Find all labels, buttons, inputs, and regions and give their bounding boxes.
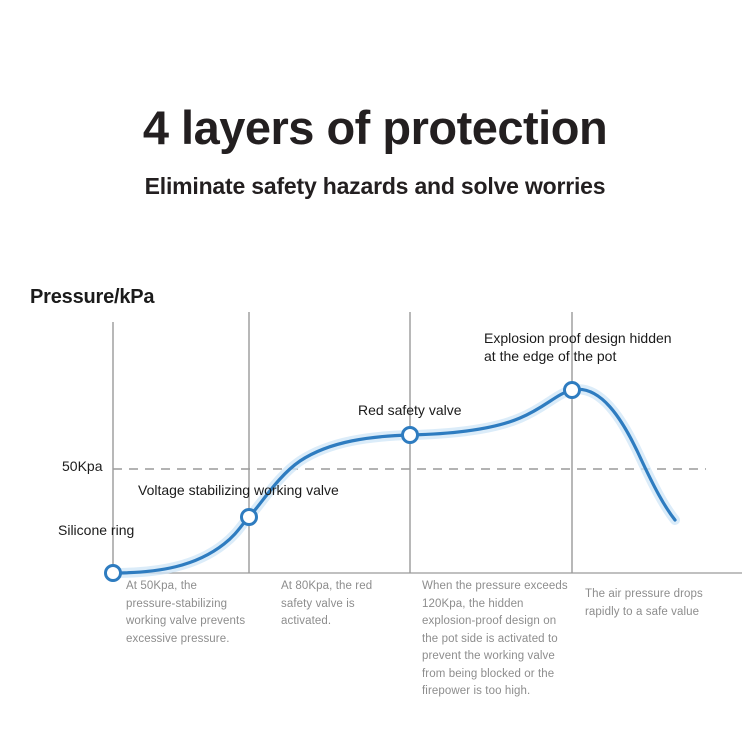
data-point-voltage-valve[interactable] — [242, 510, 257, 525]
callout-red-safety-valve: Red safety valve — [358, 402, 462, 419]
y-axis-tick-50kpa: 50Kpa — [62, 458, 102, 474]
callout-explosion-proof-design: Explosion proof design hidden at the edg… — [484, 329, 672, 365]
poster-root: 4 layers of protection Eliminate safety … — [0, 0, 750, 750]
y-axis-title: Pressure/kPa — [30, 286, 154, 309]
description-stage-2: At 80Kpa, the red safety valve is activa… — [281, 578, 401, 631]
description-stage-4: The air pressure drops rapidly to a safe… — [585, 586, 740, 621]
callout-silicone-ring: Silicone ring — [58, 522, 134, 539]
data-point-silicone[interactable] — [106, 566, 121, 581]
description-stage-1: At 50Kpa, the pressure-stabilizing worki… — [126, 578, 248, 648]
data-point-explosion-proof[interactable] — [565, 383, 580, 398]
callout-voltage-stabilizing-valve: Voltage stabilizing working valve — [138, 482, 339, 499]
pressure-chart: Pressure/kPa 50Kpa Silicone ring Voltage… — [0, 0, 750, 750]
chart-svg — [0, 0, 750, 750]
description-stage-3: When the pressure exceeds 120Kpa, the hi… — [422, 578, 568, 701]
data-point-red-valve[interactable] — [403, 428, 418, 443]
